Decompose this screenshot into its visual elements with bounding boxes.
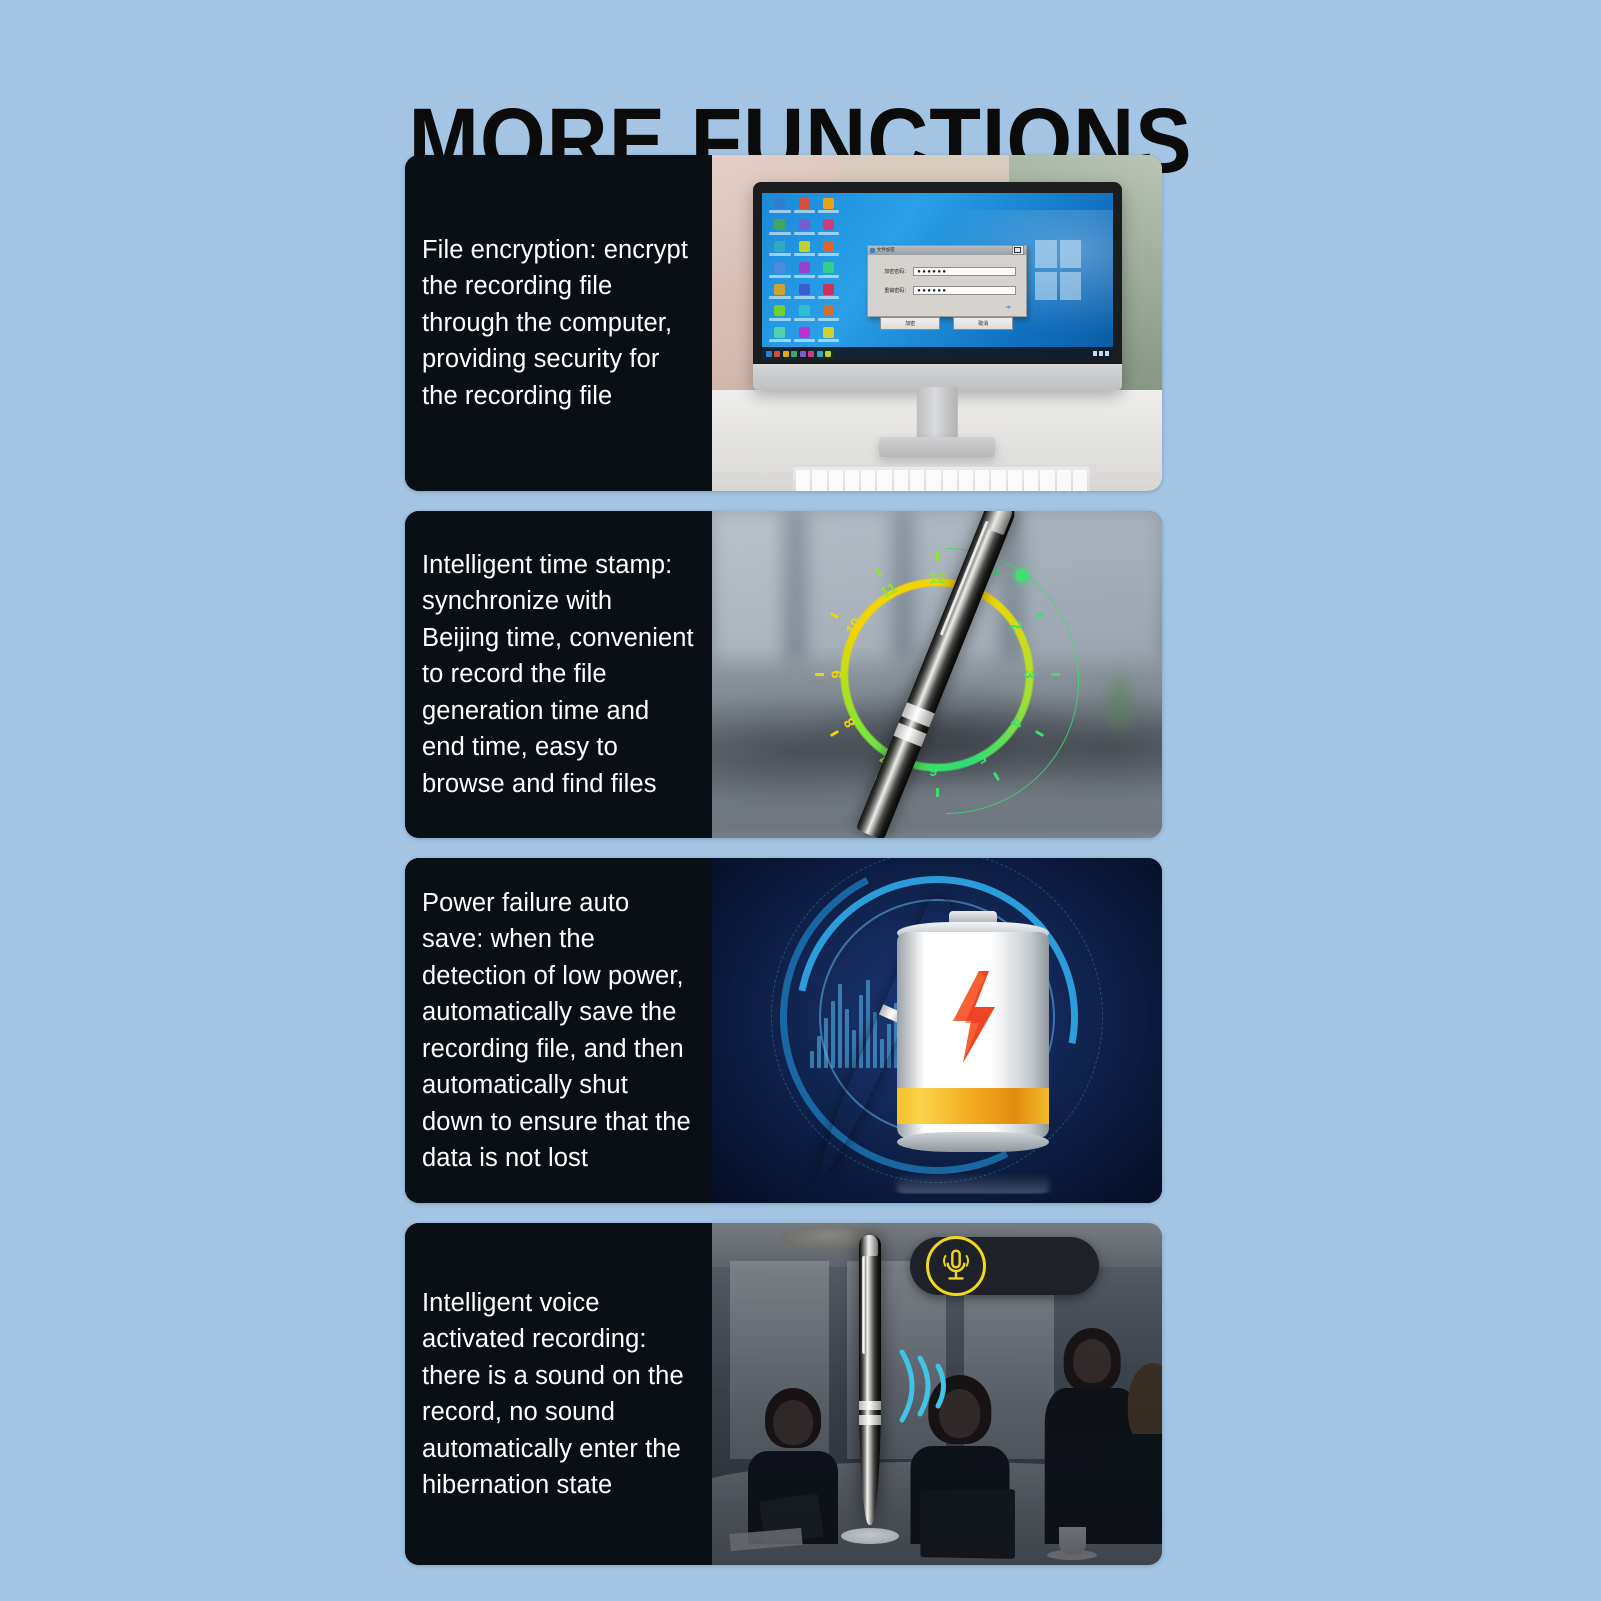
equalizer-bar — [817, 1036, 821, 1069]
equalizer-bar — [852, 1030, 856, 1068]
keyboard-key — [1057, 470, 1071, 491]
desktop-icon[interactable] — [794, 284, 815, 300]
keyboard-key — [829, 470, 843, 491]
monitor-stand-base — [879, 437, 996, 457]
keyboard-key — [943, 470, 957, 491]
dialog-title: 文件加密 — [877, 247, 895, 253]
hour-tick — [936, 788, 939, 797]
card-text-panel: Power failure auto save: when the detect… — [405, 858, 712, 1203]
feature-card-power-failure-auto-save: Power failure auto save: when the detect… — [405, 858, 1162, 1203]
windows-logo-icon — [1035, 240, 1081, 300]
pen-clip — [862, 1256, 866, 1355]
keyboard-key — [959, 470, 973, 491]
equalizer-bar — [845, 1009, 849, 1069]
dialog-restore-button[interactable] — [1012, 245, 1024, 255]
hour-numeral: 12 — [929, 570, 946, 587]
desktop-icon[interactable] — [818, 241, 839, 257]
desktop-icon[interactable] — [769, 327, 790, 343]
card-image-clock-ring-with-pen: 123456789101112 — [712, 511, 1162, 838]
desktop-icon[interactable] — [769, 305, 790, 321]
pen-band — [859, 1401, 881, 1411]
card-description: Intelligent voice activated recording: t… — [422, 1285, 694, 1504]
taskbar-tray — [1093, 351, 1109, 356]
dialog-titlebar: 文件加密 — [868, 246, 1026, 255]
desktop-icon[interactable] — [794, 198, 815, 214]
monitor-screen: 文件加密 加密密码： ●●●●●● 重输密码： — [762, 193, 1113, 360]
microphone-icon — [926, 1236, 986, 1296]
taskbar-apps — [766, 351, 832, 357]
hour-numeral: 9 — [829, 670, 846, 678]
dialog-body: 加密密码： ●●●●●● 重输密码： ●●●●●● 中 — [868, 255, 1026, 311]
keyboard-key — [861, 470, 875, 491]
battery-charge-level — [897, 1088, 1049, 1124]
desk-scene: 文件加密 加密密码： ●●●●●● 重输密码： — [712, 155, 1162, 491]
keyboard-key — [926, 470, 940, 491]
desktop-icon[interactable] — [769, 262, 790, 278]
card-image-low-battery-with-pen — [712, 858, 1162, 1203]
desktop-icon[interactable] — [818, 305, 839, 321]
card-description: Power failure auto save: when the detect… — [422, 885, 694, 1177]
battery-reflection — [897, 1172, 1049, 1193]
desktop-icon[interactable] — [818, 327, 839, 343]
card-description: File encryption: encrypt the recording f… — [422, 232, 694, 415]
equalizer-bar — [831, 1001, 835, 1068]
desktop-icon[interactable] — [769, 219, 790, 235]
equalizer-bar — [810, 1051, 814, 1068]
confirm-password-row: 重输密码： ●●●●●● — [877, 286, 1016, 295]
card-text-panel: File encryption: encrypt the recording f… — [405, 155, 712, 491]
desktop-icon[interactable] — [794, 327, 815, 343]
card-image-desktop-computer-encryption-dialog: 文件加密 加密密码： ●●●●●● 重输密码： — [712, 155, 1162, 491]
password-label: 加密密码： — [877, 268, 909, 275]
keyboard-key — [1073, 470, 1087, 491]
sound-wave-icon — [892, 1326, 962, 1446]
pen-band — [893, 722, 926, 747]
password-row: 加密密码： ●●●●●● — [877, 267, 1016, 276]
keyboard-key — [1024, 470, 1038, 491]
dialog-buttons: 加密 取消 — [868, 311, 1026, 341]
keyboard-key — [894, 470, 908, 491]
keyboard-key — [845, 470, 859, 491]
battery-bottom — [897, 1132, 1049, 1152]
keyboard-key — [991, 470, 1005, 491]
clock-progress-dot — [1015, 569, 1028, 582]
recording-pen — [859, 1235, 881, 1525]
keyboard-key — [1008, 470, 1022, 491]
keyboard-key — [1040, 470, 1054, 491]
keyboard-key — [796, 470, 810, 491]
confirm-password-label: 重输密码： — [877, 287, 909, 294]
desktop-icon[interactable] — [818, 219, 839, 235]
desktop-icon[interactable] — [769, 284, 790, 300]
keyboard-key — [877, 470, 891, 491]
taskbar — [762, 347, 1113, 360]
desktop-icon[interactable] — [794, 219, 815, 235]
desktop-icon[interactable] — [794, 305, 815, 321]
equalizer-bar — [838, 984, 842, 1068]
pen-band — [902, 702, 935, 727]
equalizer-bar — [824, 1018, 828, 1068]
battery-graphic — [897, 916, 1049, 1146]
pen-band — [859, 1415, 881, 1425]
hour-numeral: 6 — [929, 762, 937, 779]
card-text-panel: Intelligent time stamp: synchronize with… — [405, 511, 712, 838]
pen-stand — [841, 1528, 899, 1544]
dialog-app-icon — [870, 248, 875, 253]
card-description: Intelligent time stamp: synchronize with… — [422, 547, 694, 803]
lightning-bolt-icon — [945, 971, 1001, 1063]
encryption-password-dialog: 文件加密 加密密码： ●●●●●● 重输密码： — [867, 245, 1027, 317]
password-input[interactable]: ●●●●●● — [913, 267, 1016, 276]
meeting-room-background — [712, 1223, 1162, 1565]
cancel-button[interactable]: 取消 — [953, 317, 1013, 330]
feature-card-voice-activated-recording: Intelligent voice activated recording: t… — [405, 1223, 1162, 1565]
feature-card-file-encryption: File encryption: encrypt the recording f… — [405, 155, 1162, 491]
encrypt-button[interactable]: 加密 — [880, 317, 940, 330]
monitor: 文件加密 加密密码： ●●●●●● 重输密码： — [753, 182, 1122, 390]
keyboard-key — [975, 470, 989, 491]
desktop-icon[interactable] — [818, 198, 839, 214]
feature-card-intelligent-time-stamp: Intelligent time stamp: synchronize with… — [405, 511, 1162, 838]
keyboard-key — [910, 470, 924, 491]
desktop-icon[interactable] — [818, 284, 839, 300]
hour-tick — [1051, 673, 1060, 676]
microphone-glyph — [940, 1247, 972, 1284]
office-plant — [1099, 675, 1140, 747]
desktop-icon[interactable] — [818, 262, 839, 278]
desktop-icon[interactable] — [794, 262, 815, 278]
hour-numeral: 3 — [1021, 670, 1038, 678]
hour-tick — [815, 673, 824, 676]
pen-cap — [861, 1235, 878, 1255]
voice-activation-badge — [910, 1237, 1099, 1295]
desktop-icons — [769, 198, 839, 360]
confirm-password-input[interactable]: ●●●●●● — [913, 286, 1016, 295]
infographic-page: MORE FUNCTIONS File encryption: encrypt … — [0, 0, 1601, 1601]
desktop-icon[interactable] — [769, 241, 790, 257]
keyboard — [793, 467, 1090, 491]
monitor-stand-neck — [917, 387, 958, 441]
desktop-icon[interactable] — [769, 198, 790, 214]
desktop-icon[interactable] — [794, 241, 815, 257]
hour-tick — [936, 552, 939, 561]
card-text-panel: Intelligent voice activated recording: t… — [405, 1223, 712, 1565]
keyboard-key — [812, 470, 826, 491]
card-image-meeting-room-voice-activation — [712, 1223, 1162, 1565]
